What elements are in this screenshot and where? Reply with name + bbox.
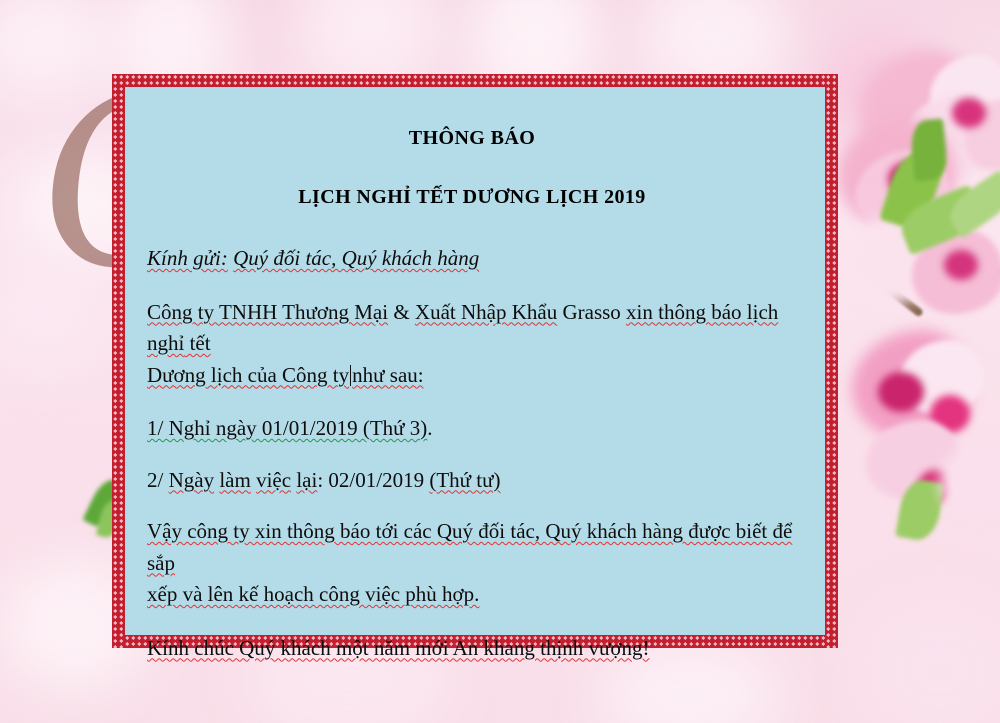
closing-line-1: Vậy công ty xin thông báo tới các Quý đố… bbox=[147, 519, 792, 575]
card-border-top bbox=[112, 74, 838, 87]
salutation-recipients: Quý đối tác, Quý khách hàng bbox=[233, 246, 479, 270]
holiday-item-1: 1/ Nghỉ ngày 01/01/2019 (Thứ 3). bbox=[147, 413, 797, 445]
card-border-left bbox=[112, 74, 125, 648]
blossom-center bbox=[878, 372, 924, 412]
intro-of-company: của Công ty bbox=[248, 363, 349, 387]
item2-day: Ngày bbox=[169, 468, 215, 492]
text-caret bbox=[350, 365, 351, 386]
intro-tet: tết bbox=[184, 331, 210, 355]
closing-paragraph: Vậy công ty xin thông báo tới các Quý đố… bbox=[147, 516, 797, 611]
intro-paragraph: Công ty TNHH Thương Mại & Xuất Nhập Khẩu… bbox=[147, 297, 797, 392]
closing-line-2: xếp và lên kế hoạch công việc phù hợp. bbox=[147, 582, 479, 606]
intro-as-follows: như sau: bbox=[352, 363, 423, 387]
announcement-card: THÔNG BÁO LỊCH NGHỈ TẾT DƯƠNG LỊCH 2019 … bbox=[112, 74, 838, 648]
intro-duong: Dương bbox=[147, 363, 206, 387]
page-subtitle: LỊCH NGHỈ TẾT DƯƠNG LỊCH 2019 bbox=[147, 186, 797, 209]
intro-brand: Grasso bbox=[557, 300, 626, 324]
item2-weekday: (Thứ tư) bbox=[429, 468, 500, 492]
page-title: THÔNG BÁO bbox=[147, 127, 797, 150]
wish-paragraph: Kính chúc Quý khách một năm mới An khang… bbox=[147, 633, 797, 665]
intro-ampersand: & bbox=[388, 300, 415, 324]
holiday-item-2: 2/ Ngày làm việc lại: 02/01/2019 (Thứ tư… bbox=[147, 465, 797, 497]
intro-import-export: Xuất Nhập Khẩu bbox=[415, 300, 557, 324]
item2-date: : 02/01/2019 bbox=[317, 468, 429, 492]
card-content: THÔNG BÁO LỊCH NGHỈ TẾT DƯƠNG LỊCH 2019 … bbox=[125, 87, 825, 635]
intro-company-prefix: Công ty TNHH bbox=[147, 300, 282, 324]
salutation-label: Kính gửi: bbox=[147, 246, 228, 270]
blossom-center bbox=[944, 250, 978, 280]
wish-text: Kính chúc Quý khách một năm mới An khang… bbox=[147, 636, 650, 660]
salutation-line: Kính gửi: Quý đối tác, Quý khách hàng bbox=[147, 243, 797, 275]
item2-work: làm bbox=[219, 468, 251, 492]
item1-period: . bbox=[427, 416, 432, 440]
item2-again: lại bbox=[296, 468, 317, 492]
intro-trade: Thương Mại bbox=[282, 300, 388, 324]
blossom-center bbox=[952, 98, 986, 128]
card-border-right bbox=[825, 74, 838, 648]
item2-job: việc bbox=[256, 468, 291, 492]
item1-number: 1/ bbox=[147, 416, 169, 440]
intro-lich: lịch bbox=[206, 363, 248, 387]
item1-text: Nghỉ ngày 01/01/2019 (Thứ 3) bbox=[169, 416, 428, 440]
item2-number: 2/ bbox=[147, 468, 169, 492]
